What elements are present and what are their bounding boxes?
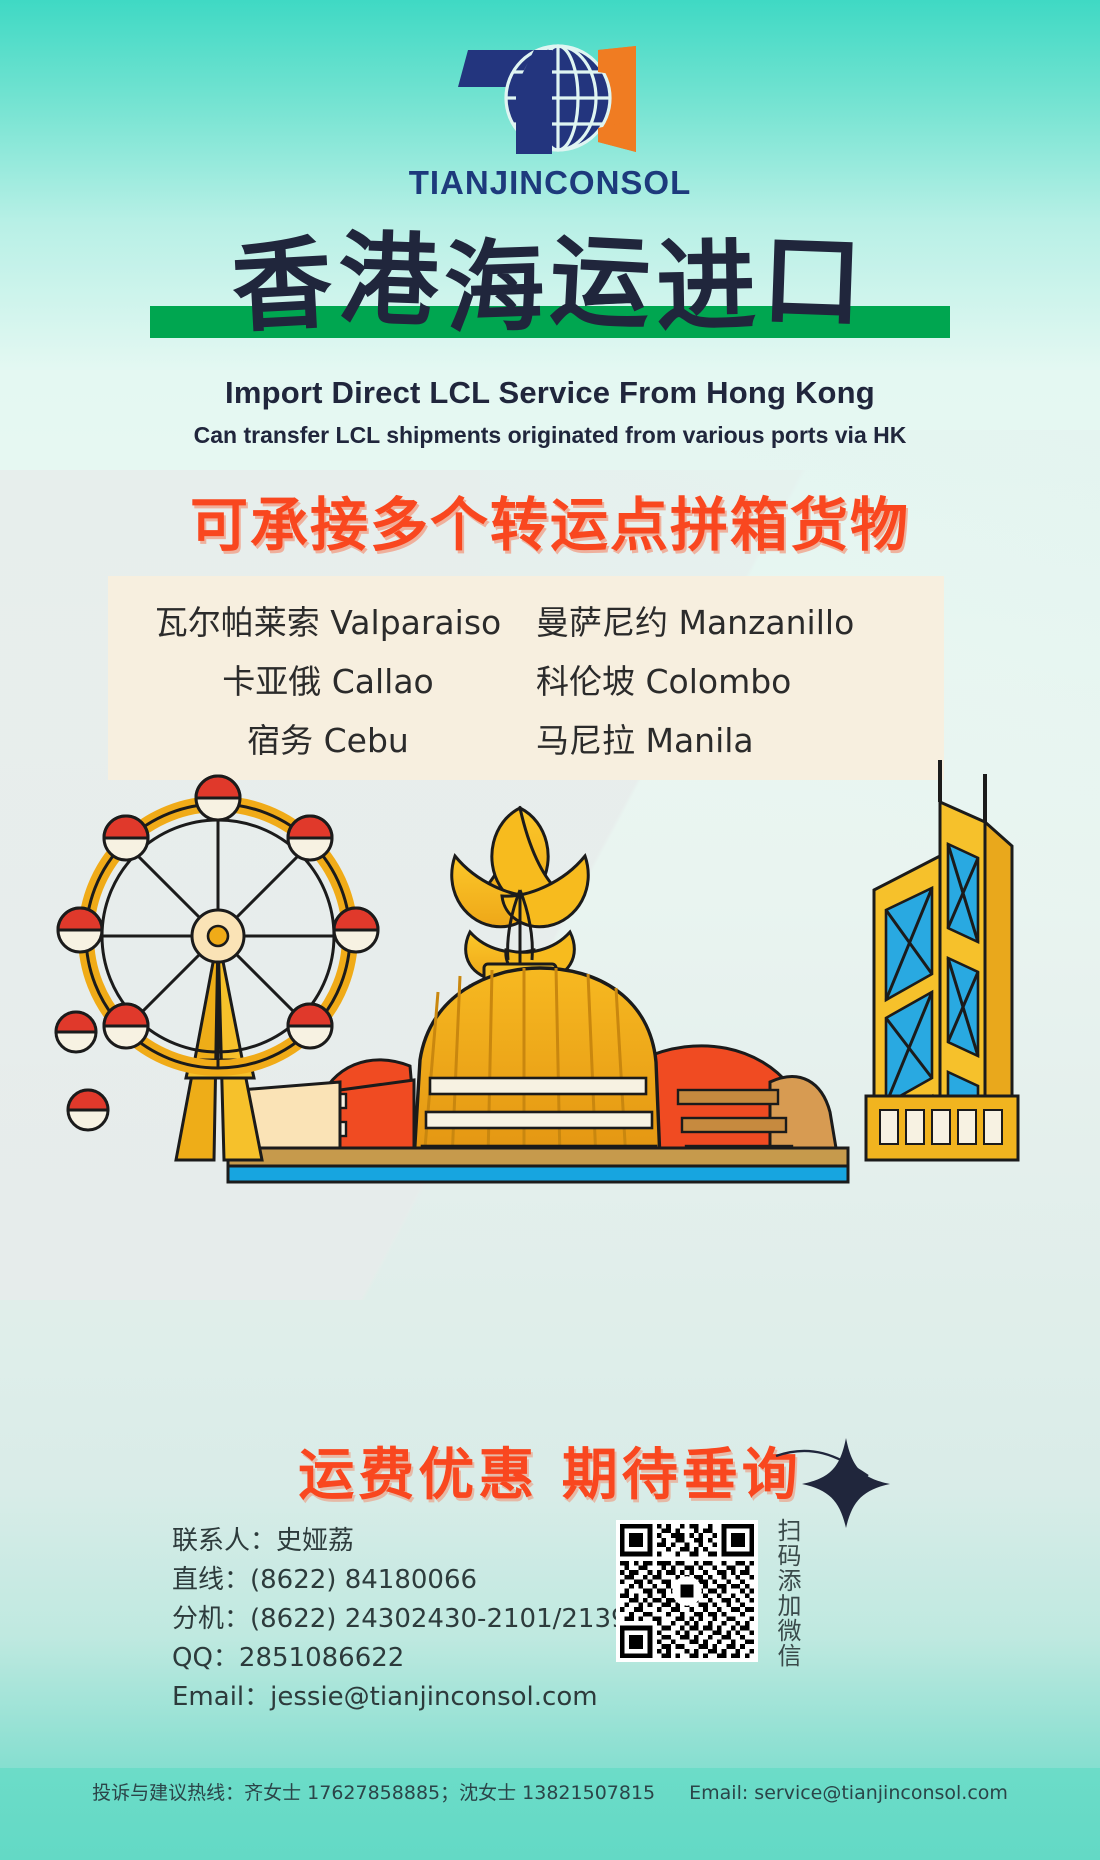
- footer-bar: 投诉与建议热线：齐女士 17627858885；沈女士 13821507815E…: [0, 1768, 1100, 1860]
- headline-char: 口: [760, 224, 870, 340]
- contact-extension[interactable]: 分机：(8622) 24302430-2101/2139: [172, 1600, 642, 1639]
- qr-instruction-label: 扫码添加微信: [766, 1518, 800, 1668]
- headline-char: 香: [229, 227, 341, 344]
- footer-contact-1[interactable]: 齐女士 17627858885；: [244, 1782, 459, 1804]
- port-item: 科伦坡 Colombo: [526, 655, 922, 703]
- footer-hotline-label: 投诉与建议热线：: [92, 1782, 244, 1804]
- contact-direct-line[interactable]: 直线：(8622) 84180066: [172, 1561, 642, 1600]
- poster-root: TIANJINCONSOL 香港海运进口 Import Direct LCL S…: [0, 0, 1100, 1860]
- promo-slogan: 运费优惠 期待垂询: [0, 1430, 1100, 1511]
- subtitle-chinese-red: 可承接多个转运点拼箱货物: [0, 478, 1100, 562]
- contact-qq[interactable]: QQ：2851086622: [172, 1639, 642, 1678]
- subtitle-english-secondary: Can transfer LCL shipments originated fr…: [0, 422, 1100, 449]
- port-item: 曼萨尼约 Manzanillo: [526, 596, 922, 644]
- headline-char: 海: [442, 230, 552, 346]
- port-item: 瓦尔帕莱索 Valparaiso: [130, 596, 526, 644]
- headline-block: 香港海运进口: [0, 228, 1100, 353]
- contact-person: 联系人：史娅荔: [172, 1522, 642, 1561]
- contact-email[interactable]: Email：jessie@tianjinconsol.com: [172, 1678, 642, 1717]
- sparkle-star-icon: [772, 1420, 892, 1530]
- footer-contact-2[interactable]: 沈女士 13821507815: [459, 1782, 655, 1804]
- subtitle-english-primary: Import Direct LCL Service From Hong Kong: [0, 375, 1100, 411]
- convention-centre-icon: [228, 968, 848, 1182]
- headline-char: 进: [655, 230, 763, 344]
- brand-wordmark: TIANJINCONSOL: [0, 164, 1100, 202]
- headline-char: 港: [336, 223, 446, 339]
- port-item: 宿务 Cebu: [130, 714, 526, 762]
- hong-kong-skyline-illustration: [0, 760, 1100, 1400]
- footer-text: 投诉与建议热线：齐女士 17627858885；沈女士 13821507815E…: [92, 1778, 1008, 1805]
- headline-char: 运: [547, 224, 659, 341]
- port-item: 卡亚俄 Callao: [130, 655, 526, 703]
- headline-text: 香港海运进口: [0, 228, 1100, 340]
- footer-email[interactable]: Email: service@tianjinconsol.com: [689, 1782, 1008, 1804]
- tianjinconsol-globe-logo-icon: [430, 42, 670, 160]
- transshipment-ports-panel: 瓦尔帕莱索 Valparaiso 曼萨尼约 Manzanillo 卡亚俄 Cal…: [108, 576, 944, 780]
- bank-of-china-tower-icon: [866, 760, 1018, 1160]
- wechat-qr-block[interactable]: [616, 1520, 758, 1662]
- contact-block: 联系人：史娅荔 直线：(8622) 84180066 分机：(8622) 243…: [172, 1522, 642, 1717]
- brand-logo: TIANJINCONSOL: [0, 42, 1100, 202]
- port-item: 马尼拉 Manila: [526, 714, 922, 762]
- wechat-qr-code-icon[interactable]: [616, 1520, 758, 1662]
